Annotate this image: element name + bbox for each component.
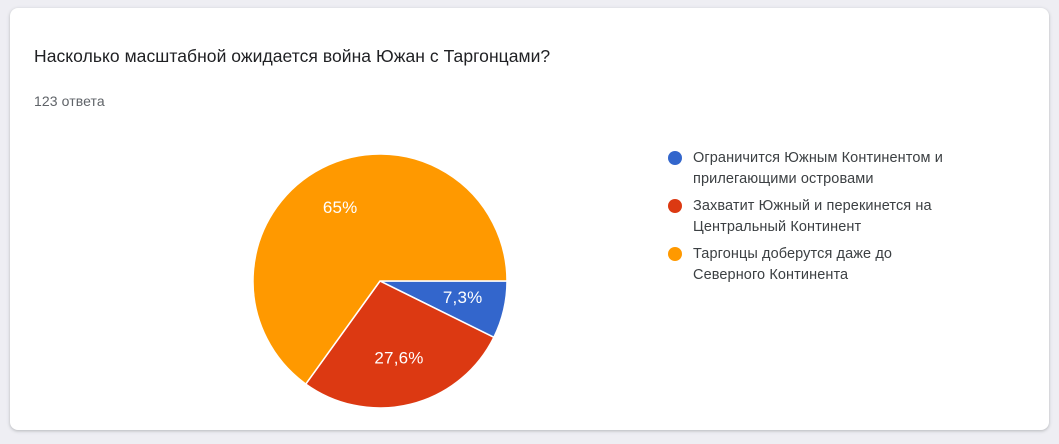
pie-slices (253, 154, 507, 408)
question-results-card: Насколько масштабной ожидается война Южа… (10, 8, 1049, 430)
pie-chart: 7,3% 27,6% 65% (233, 133, 513, 413)
pie-slice-label-red: 27,6% (374, 348, 423, 367)
legend-color-swatch-blue-icon (668, 151, 682, 165)
chart-legend: Ограничится Южным Континентом и прилегаю… (668, 148, 1008, 292)
legend-item-2[interactable]: Таргонцы доберутся даже до Северного Кон… (668, 244, 1008, 286)
legend-item-label: Ограничится Южным Континентом и прилегаю… (693, 148, 943, 190)
legend-label-line2: Северного Континента (693, 267, 848, 283)
legend-item-0[interactable]: Ограничится Южным Континентом и прилегаю… (668, 148, 1008, 190)
pie-chart-area: 7,3% 27,6% 65% Ограничится Южным Контине… (10, 8, 1049, 430)
legend-label-line1: Ограничится Южным Континентом и (693, 150, 943, 166)
legend-label-line1: Таргонцы доберутся даже до (693, 246, 892, 262)
legend-label-line2: Центральный Континент (693, 219, 861, 235)
pie-slice-label-orange: 65% (323, 198, 358, 217)
legend-item-1[interactable]: Захватит Южный и перекинется на Централь… (668, 196, 1008, 238)
legend-color-swatch-red-icon (668, 199, 682, 213)
legend-label-line2: прилегающими островами (693, 171, 874, 187)
legend-item-label: Таргонцы доберутся даже до Северного Кон… (693, 244, 892, 286)
legend-label-line1: Захватит Южный и перекинется на (693, 198, 932, 214)
legend-color-swatch-orange-icon (668, 247, 682, 261)
legend-item-label: Захватит Южный и перекинется на Централь… (693, 196, 932, 238)
pie-slice-label-blue: 7,3% (443, 288, 483, 307)
